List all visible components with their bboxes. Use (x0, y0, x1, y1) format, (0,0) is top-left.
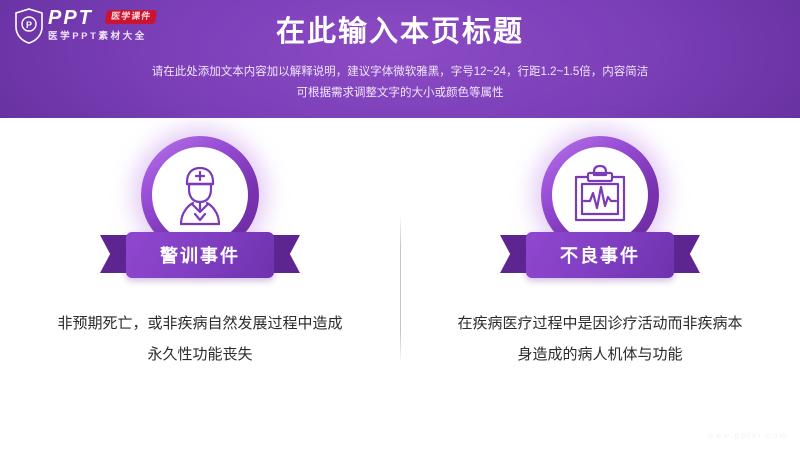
column-sentinel-event: 警训事件 非预期死亡，或非疾病自然发展过程中造成永久性功能丧失 (0, 118, 400, 450)
ribbon-band: 不良事件 (526, 232, 674, 278)
ribbon-label: 警训事件 (160, 242, 240, 268)
subtitle-line-1: 请在此处添加文本内容加以解释说明，建议字体微软雅黑，字号12~24，行距1.2~… (50, 62, 750, 83)
page-header: P PPT 医学课件 医学PPT素材大全 在此输入本页标题 请在此处添加文本内容… (0, 0, 800, 118)
page-title: 在此输入本页标题 (0, 14, 800, 50)
doctor-nurse-icon (165, 162, 235, 228)
ribbon-label: 不良事件 (560, 242, 640, 268)
clipboard-ecg-icon (565, 162, 635, 228)
description-adverse-event: 在疾病医疗过程中是因诊疗活动而非疾病本身造成的病人机体与功能 (455, 308, 745, 370)
badge-adverse-event[interactable]: 不良事件 (500, 136, 700, 296)
ribbon-band: 警训事件 (126, 232, 274, 278)
page-subtitle: 请在此处添加文本内容加以解释说明，建议字体微软雅黑，字号12~24，行距1.2~… (50, 62, 750, 104)
content-area: 警训事件 非预期死亡，或非疾病自然发展过程中造成永久性功能丧失 (0, 118, 800, 450)
badge-sentinel-event[interactable]: 警训事件 (100, 136, 300, 296)
description-sentinel-event: 非预期死亡，或非疾病自然发展过程中造成永久性功能丧失 (55, 308, 345, 370)
watermark: www.ppter.com (708, 431, 788, 440)
ribbon-adverse-event: 不良事件 (500, 232, 700, 278)
ribbon-sentinel-event: 警训事件 (100, 232, 300, 278)
column-adverse-event: 不良事件 在疾病医疗过程中是因诊疗活动而非疾病本身造成的病人机体与功能 (400, 118, 800, 450)
subtitle-line-2: 可根据需求调整文字的大小或颜色等属性 (50, 83, 750, 104)
